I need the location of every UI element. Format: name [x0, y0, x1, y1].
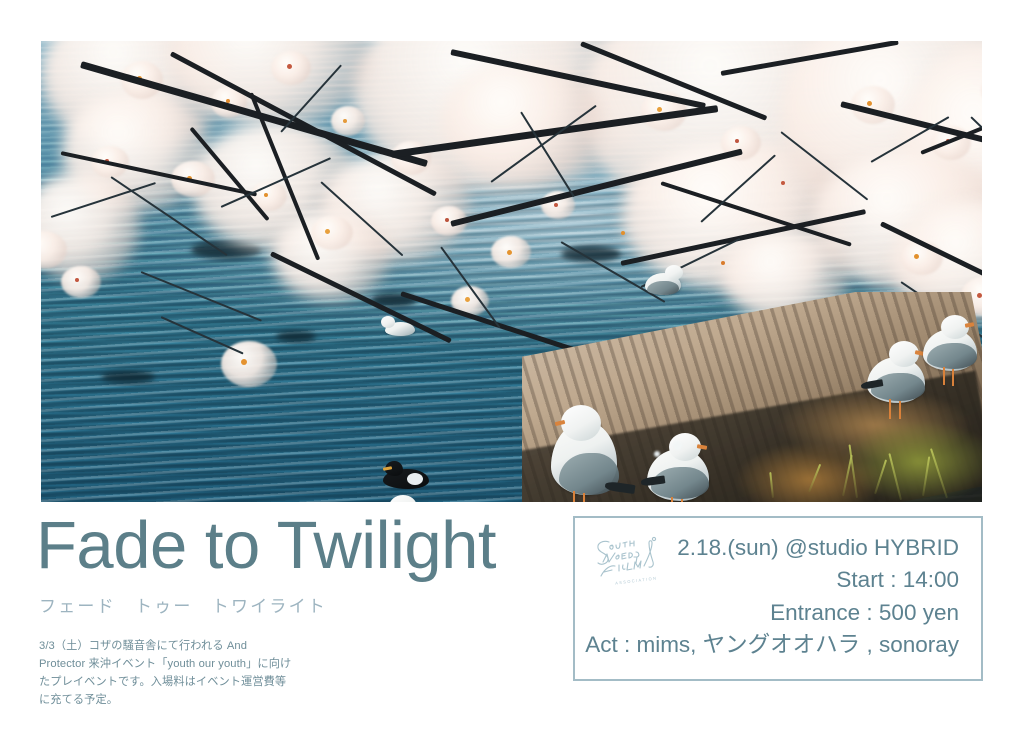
poster-title: Fade to Twilight — [36, 512, 496, 579]
event-entrance-fee: Entrance : 500 yen — [585, 597, 959, 629]
water-highlight — [673, 441, 682, 450]
seagull-swimming — [371, 493, 443, 502]
seagull — [641, 263, 689, 305]
event-info-panel: ASSOCIATION 2.18.(sun) @studio HYBRID St… — [573, 516, 983, 681]
cherry-blossom-lake-seagulls-photo — [41, 41, 982, 502]
duck-swimming — [381, 459, 437, 493]
poster-canvas: Fade to Twilight フェード トゥー トワイライト 3/3（土）コ… — [0, 0, 1024, 730]
event-act-lineup: Act : mims, ヤングオオハラ , sonoray — [585, 629, 959, 661]
distant-bird-blob — [101, 371, 155, 383]
seagull — [917, 313, 982, 389]
event-start-time: Start : 14:00 — [585, 564, 959, 596]
poster-title-katakana: フェード トゥー トワイライト — [39, 592, 327, 617]
seagull-swimming — [381, 314, 423, 342]
seagull — [543, 399, 633, 502]
hanging-blossom-stamen — [241, 359, 247, 365]
cherry-blossom-canopy — [41, 41, 982, 331]
seagull — [641, 431, 723, 502]
event-info-lines: 2.18.(sun) @studio HYBRID Start : 14:00 … — [585, 532, 959, 662]
distant-bird-blob — [276, 331, 316, 342]
poster-description: 3/3（土）コザの騒音舎にて行われる And Protector 来沖イベント「… — [39, 637, 295, 710]
dry-grass-patch — [732, 386, 982, 502]
water-highlight — [654, 451, 660, 457]
event-date-venue: 2.18.(sun) @studio HYBRID — [585, 532, 959, 564]
